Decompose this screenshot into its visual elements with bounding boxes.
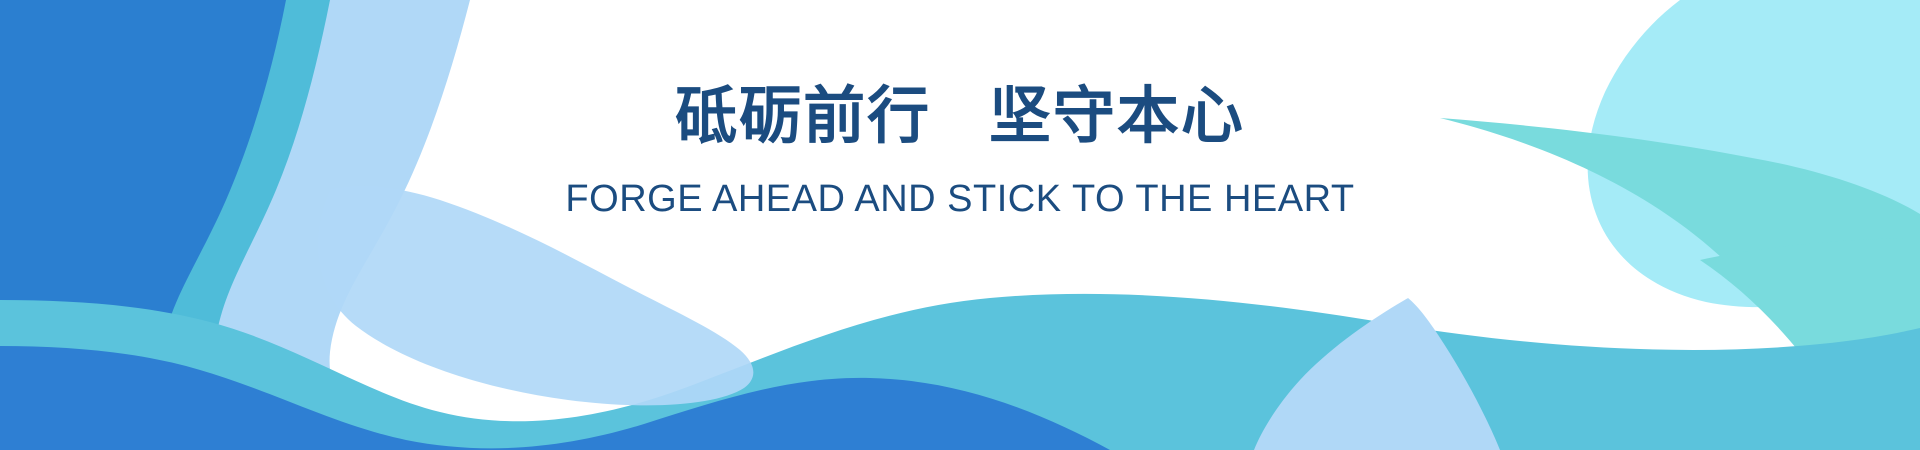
hero-banner: 砥砺前行 坚守本心 FORGE AHEAD AND STICK TO THE H… [0, 0, 1920, 450]
decorative-background-art [0, 0, 1920, 450]
